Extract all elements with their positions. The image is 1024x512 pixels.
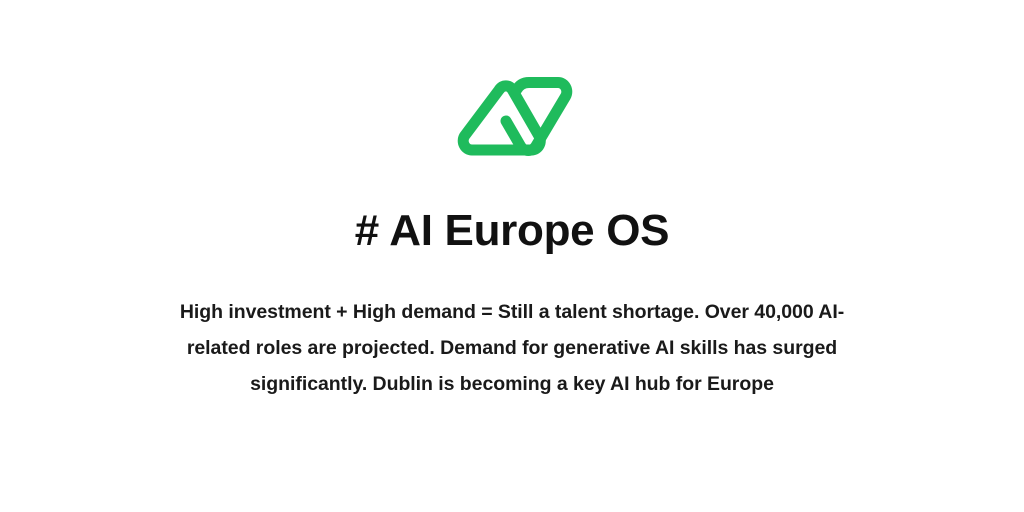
slide-container: # AI Europe OS High investment + High de… — [0, 0, 1024, 512]
body-paragraph: High investment + High demand = Still a … — [151, 294, 873, 402]
page-title: # AI Europe OS — [355, 208, 669, 254]
ai-europe-os-logo-icon — [446, 74, 578, 166]
